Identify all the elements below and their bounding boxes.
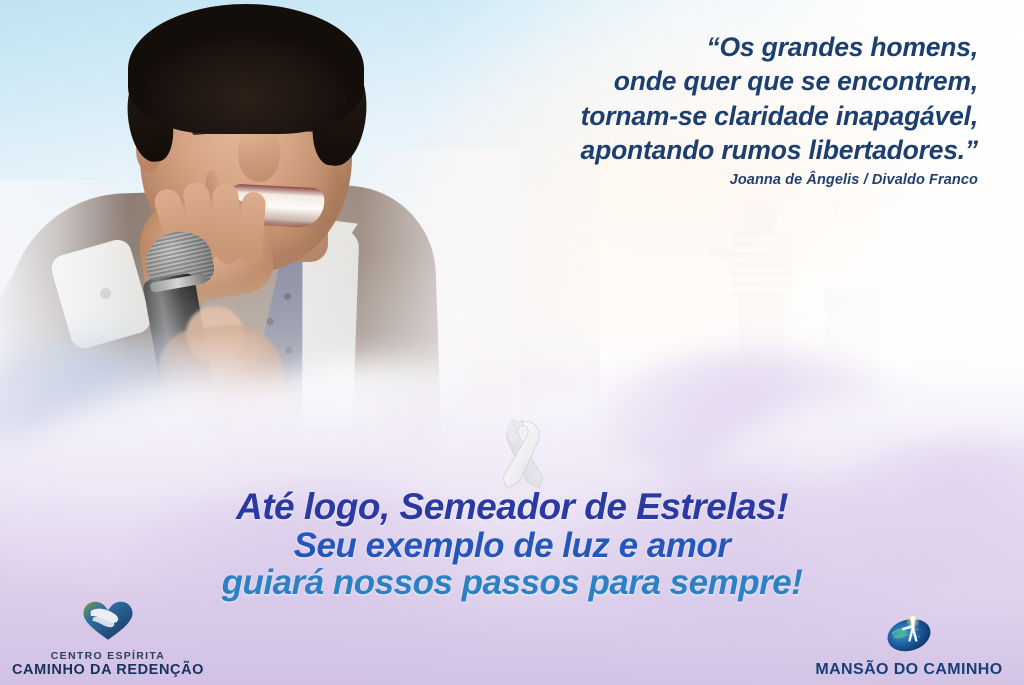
quote-text: “Os grandes homens, onde quer que se enc… (338, 30, 978, 168)
logo-left-line-2: CAMINHO DA REDENÇÃO (10, 662, 206, 679)
quote-line-4: apontando rumos libertadores.” (338, 133, 978, 167)
headline-line-2: Seu exemplo de luz e amor (0, 527, 1024, 564)
quote-line-3: tornam-se claridade inapagável, (338, 99, 978, 133)
quote-line-1: “Os grandes homens, (338, 30, 978, 64)
white-ribbon-icon (487, 410, 559, 492)
headline-line-3: guiará nossos passos para sempre! (0, 564, 1024, 601)
headline-line-1: Até logo, Semeador de Estrelas! (0, 487, 1024, 527)
quote-line-2: onde quer que se encontrem, (338, 64, 978, 98)
logo-centro-espirita: CENTRO ESPÍRITA CAMINHO DA REDENÇÃO (10, 597, 206, 679)
logo-mansao-do-caminho: MANSÃO DO CAMINHO (802, 610, 1016, 679)
quote-attribution: Joanna de Ângelis / Divaldo Franco (338, 172, 978, 188)
logo-right-line-1: MANSÃO DO CAMINHO (802, 661, 1016, 679)
headline-message: Até logo, Semeador de Estrelas! Seu exem… (0, 487, 1024, 601)
globe-figure-icon (802, 610, 1016, 659)
heart-hands-icon (10, 597, 206, 648)
memorial-poster: “Os grandes homens, onde quer que se enc… (0, 0, 1024, 685)
logo-left-line-1: CENTRO ESPÍRITA (10, 650, 206, 662)
